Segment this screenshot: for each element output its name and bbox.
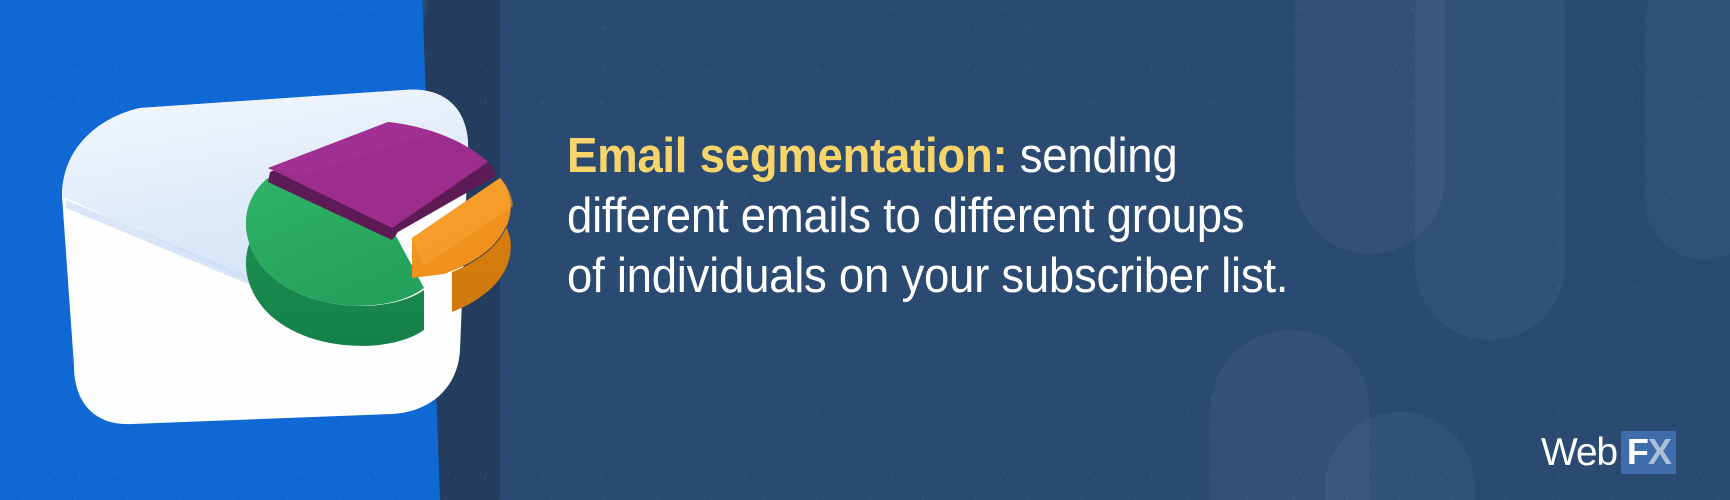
- logo-word-web: Web: [1541, 433, 1617, 472]
- headline-copy: Email segmentation: sending different em…: [567, 126, 1497, 306]
- headline-lead: Email segmentation:: [567, 129, 1007, 183]
- email-segmentation-banner: Email segmentation: sending different em…: [0, 0, 1730, 500]
- logo-mark-fx: F X: [1621, 431, 1676, 474]
- logo-letter-x: X: [1648, 434, 1671, 470]
- decorative-arch-shape: [1645, 0, 1730, 260]
- headline-line-2: different emails to different groups: [567, 186, 1432, 246]
- headline-line-1-rest: sending: [1007, 129, 1177, 183]
- envelope-pie-chart-illustration: [0, 0, 530, 500]
- headline-line-3: of individuals on your subscriber list.: [567, 246, 1432, 306]
- webfx-logo[interactable]: Web F X: [1541, 430, 1676, 474]
- logo-letter-f: F: [1627, 434, 1648, 470]
- headline-line-1: Email segmentation: sending: [567, 126, 1432, 186]
